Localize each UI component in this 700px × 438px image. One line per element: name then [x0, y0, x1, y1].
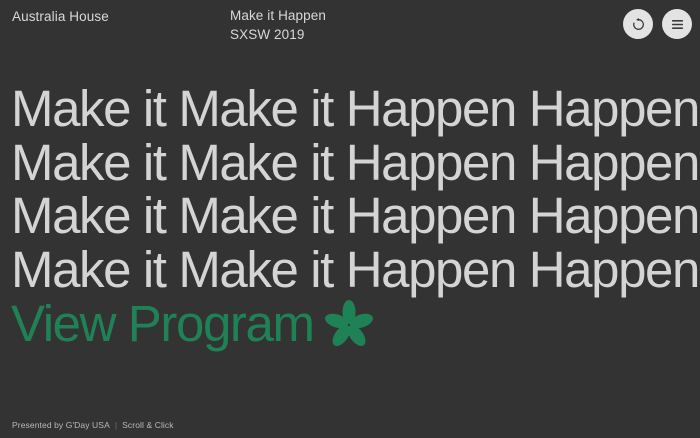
event-title-block: Make it Happen SXSW 2019	[230, 7, 326, 44]
footer-scroll-hint: Scroll & Click	[122, 420, 173, 430]
hero-headline-line: Make it Make it Happen Happen	[0, 243, 700, 297]
flower-asterisk-icon	[324, 297, 374, 350]
site-footer: Presented by G'Day USA | Scroll & Click	[12, 420, 174, 430]
menu-button[interactable]	[662, 9, 692, 39]
hero-headline-line: Make it Make it Happen Happen	[0, 189, 700, 243]
view-program-label: View Program	[11, 297, 314, 351]
refresh-button[interactable]	[623, 9, 653, 39]
event-title: Make it Happen	[230, 7, 326, 26]
refresh-icon	[631, 17, 646, 32]
brand-title: Australia House	[12, 8, 109, 26]
hero-section: Make it Make it Happen Happen Make it Ma…	[0, 82, 700, 351]
header-actions	[623, 9, 692, 39]
hero-headline-line: Make it Make it Happen Happen	[0, 136, 700, 190]
footer-separator: |	[115, 420, 117, 430]
site-header: Australia House Make it Happen SXSW 2019	[0, 0, 700, 52]
footer-presented-by: Presented by G'Day USA	[12, 420, 110, 430]
hamburger-menu-icon	[670, 18, 685, 31]
view-program-link[interactable]: View Program	[0, 297, 374, 351]
event-subtitle: SXSW 2019	[230, 26, 326, 45]
hero-headline-line: Make it Make it Happen Happen	[0, 82, 700, 136]
